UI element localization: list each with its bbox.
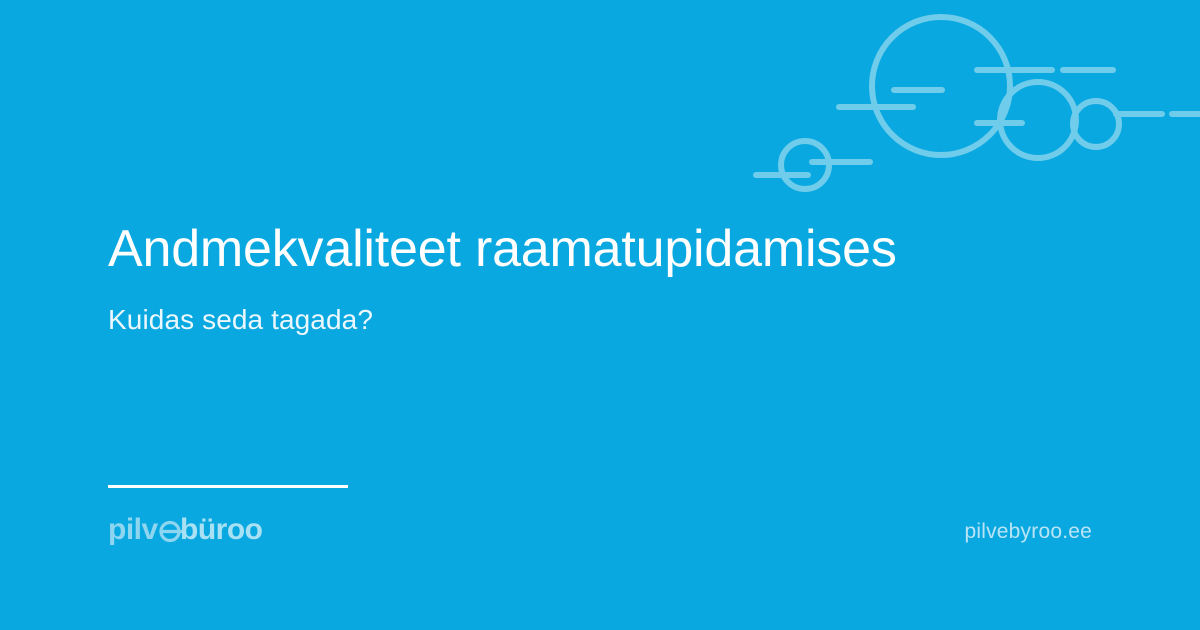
pilveburoo-logo: pilv büroo — [108, 513, 294, 547]
social-share-card: Andmekvaliteet raamatupidamises Kuidas s… — [0, 0, 1200, 630]
decor-circle-large — [872, 17, 1010, 155]
decor-circle-tiny — [781, 141, 829, 189]
decor-circle-medium — [1000, 82, 1076, 158]
decor-circle-small — [1073, 101, 1119, 147]
logo-text-part-one: pilv — [108, 513, 158, 546]
logo-text-part-two: büroo — [180, 513, 263, 546]
page-title: Andmekvaliteet raamatupidamises — [108, 218, 1068, 280]
divider-rule — [108, 485, 348, 488]
card-footer: pilv büroo pilvebyroo.ee — [108, 485, 1092, 555]
hero-text-block: Andmekvaliteet raamatupidamises Kuidas s… — [108, 218, 1068, 338]
page-subtitle: Kuidas seda tagada? — [108, 302, 1068, 338]
site-url: pilvebyroo.ee — [964, 519, 1092, 545]
cloud-circles-pattern — [740, 0, 1200, 210]
